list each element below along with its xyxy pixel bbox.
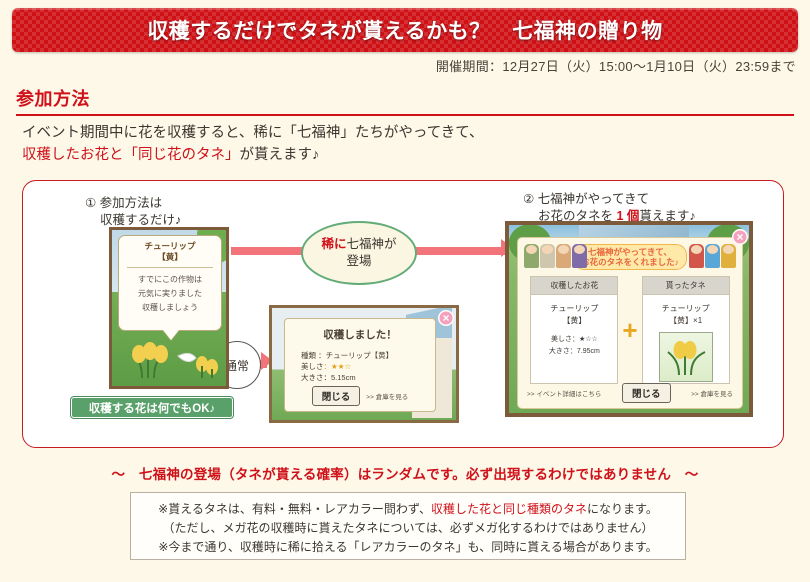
footnote-1-highlight: 収穫した花と同じ種類のタネ (431, 502, 587, 516)
crop-name-line-1: チューリップ (119, 241, 221, 252)
random-appearance-note: 〜 七福神の登場（タネが貰える確率）はランダムです。必ず出現するわけではありませ… (0, 463, 810, 483)
harvest-warehouse-link[interactable]: >> 倉庫を見る (366, 391, 408, 401)
footnote-1-post: になります。 (587, 502, 658, 516)
harvest-row-beauty: 美しさ：★★☆ (301, 361, 435, 372)
intro-highlight: 収穫したお花と「同じ花のタネ」 (22, 147, 240, 163)
harvest-row-beauty-label: 美しさ (301, 362, 324, 371)
event-title: 収穫するだけでタネが貰えるかも？ 七福神の贈り物 (147, 15, 662, 45)
gods-ribbon-line-2: お花のタネをくれました♪ (581, 257, 679, 267)
howto-panel: ① 参加方法は 収穫するだけ♪ ② 七福神がやってきて お花のタネを 1 個貰え… (22, 180, 784, 448)
harvest-row-size-label: 大きさ (301, 373, 324, 382)
harvest-dialog-actions: 閉じる >> 倉庫を見る (285, 386, 435, 406)
gods-close-button[interactable]: 閉じる (622, 383, 671, 403)
step-2-line-1: ② 七福神がやってきて (523, 191, 696, 208)
harvest-row-type: 種類 ：チューリップ【黄】 (301, 350, 435, 361)
harvested-flower-body: チューリップ 【黄】 美しさ：★☆☆ 大きさ：7.95cm (531, 295, 617, 383)
gods-figures-right (689, 244, 736, 268)
intro-line-2: 収穫したお花と「同じ花のタネ」が貰えます♪ (22, 144, 484, 166)
gods-dialog: 七福神がやってきて、 お花のタネをくれました♪ 収穫したお花 チューリップ 【黄… (517, 237, 743, 409)
harvested-flower-size: 大きさ：7.95cm (531, 346, 617, 357)
harvest-row-size: 大きさ：5.15cm (301, 372, 435, 383)
harvested-flower-header: 収穫したお花 (531, 277, 617, 295)
step-1-line-1: ① 参加方法は (85, 195, 181, 212)
harvested-flower-name-1: チューリップ (531, 303, 617, 315)
gods-ribbon-row: 七福神がやってきて、 お花のタネをくれました♪ (522, 240, 738, 274)
intro-line-1: イベント期間中に花を収穫すると、稀に「七福神」たちがやってきて、 (22, 122, 484, 144)
any-flower-ok-badge: 収穫する花は何でもOK♪ (71, 397, 233, 418)
god-figure (705, 244, 720, 268)
crop-info-bubble: チューリップ 【黄】 すでにこの作物は 元気に実りました 収穫しましょう (118, 235, 222, 331)
footnote-line-2: （ただし、メガ花の収穫時に貰えたタネについては、必ずメガ化するわけではありません… (141, 519, 675, 538)
section-divider (16, 114, 794, 116)
step-2-caption: ② 七福神がやってきて お花のタネを 1 個貰えます♪ (523, 191, 696, 225)
bubble-line-2: 元気に実りました (119, 287, 221, 301)
rare-appearance-badge: 稀に七福神が 登場 (301, 221, 417, 285)
plus-icon: + (622, 317, 637, 343)
god-figure (721, 244, 736, 268)
intro-line-2-rest: が貰えます♪ (240, 147, 320, 163)
harvested-flower-beauty: 美しさ：★☆☆ (531, 334, 617, 345)
god-figure (540, 244, 555, 268)
rare-badge-rest: 七福神が (347, 237, 397, 251)
left-game-screenshot: チューリップ 【黄】 すでにこの作物は 元気に実りました 収穫しましょう (109, 227, 229, 389)
rare-badge-highlight: 稀に (321, 237, 346, 251)
event-banner-background: 収穫するだけでタネが貰えるかも？ 七福神の贈り物 (12, 8, 798, 52)
footnote-box: ※貰えるタネは、有料・無料・レアカラー問わず、収穫した花と同じ種類のタネになりま… (130, 492, 686, 560)
god-figure (524, 244, 539, 268)
arrow-bar-oval-to-right (411, 247, 507, 255)
crop-name-line-2: 【黄】 (119, 252, 221, 263)
step-1-caption: ① 参加方法は 収穫するだけ♪ (85, 195, 181, 229)
footnote-line-3: ※今まで通り、収穫時に稀に拾える「レアカラーのタネ」も、同時に貰える場合がありま… (141, 538, 675, 557)
intro-text: イベント期間中に花を収穫すると、稀に「七福神」たちがやってきて、 収穫したお花と… (22, 122, 484, 166)
god-figure (572, 244, 587, 268)
received-seed-name-1: チューリップ (643, 303, 729, 315)
arrow-bar-to-oval (231, 247, 303, 255)
bubble-line-1: すでにこの作物は (119, 273, 221, 287)
harvested-flower-name-2: 【黄】 (531, 315, 617, 327)
event-detail-link[interactable]: >> イベント詳細はこちら (527, 388, 601, 398)
bubble-divider (127, 267, 213, 268)
received-seed-name-2: 【黄】×1 (643, 315, 729, 327)
section-title: 参加方法 (16, 85, 794, 111)
gods-dialog-cards: 収穫したお花 チューリップ 【黄】 美しさ：★☆☆ 大きさ：7.95cm + 貰… (518, 276, 742, 384)
section-header: 参加方法 (16, 85, 794, 116)
harvest-dialog-title: 収穫しました！ (285, 327, 435, 342)
harvested-flower-card: 収穫したお花 チューリップ 【黄】 美しさ：★☆☆ 大きさ：7.95cm (530, 276, 618, 384)
footnote-line-1: ※貰えるタネは、有料・無料・レアカラー問わず、収穫した花と同じ種類のタネになりま… (141, 500, 675, 519)
harvest-dialog: 収穫しました！ 種類 ：チューリップ【黄】 美しさ：★★☆ 大きさ：5.15cm… (284, 318, 436, 412)
god-figure (689, 244, 704, 268)
god-figure (556, 244, 571, 268)
received-seed-body: チューリップ 【黄】×1 (643, 295, 729, 383)
bubble-line-3: 収穫しましょう (119, 301, 221, 315)
harvest-row-size-value: ：5.15cm (324, 373, 356, 382)
event-banner: 収穫するだけでタネが貰えるかも？ 七福神の贈り物 (12, 8, 798, 52)
rare-badge-line-2: 登場 (346, 253, 371, 270)
received-seed-card: 貰ったタネ チューリップ 【黄】×1 (642, 276, 730, 384)
tulip-cluster-icon (126, 334, 218, 380)
event-period: 開催期間：12月27日（火）15:00〜1月10日（火）23:59まで (436, 56, 796, 75)
harvest-row-type-label: 種類 (301, 351, 316, 360)
right-game-screenshot: 七福神がやってきて、 お花のタネをくれました♪ 収穫したお花 チューリップ 【黄… (505, 221, 753, 417)
harvest-dialog-rows: 種類 ：チューリップ【黄】 美しさ：★★☆ 大きさ：5.15cm (301, 350, 435, 383)
harvest-row-beauty-value: ：★★☆ (324, 362, 352, 371)
harvest-result-screenshot: × 収穫しました！ 種類 ：チューリップ【黄】 美しさ：★★☆ 大きさ：5.15… (269, 305, 459, 423)
gods-warehouse-link[interactable]: >> 倉庫を見る (691, 388, 733, 398)
gods-ribbon-line-1: 七福神がやってきて、 (581, 247, 679, 257)
seed-thumbnail (659, 332, 713, 382)
close-icon[interactable]: × (732, 229, 748, 245)
gods-ribbon: 七福神がやってきて、 お花のタネをくれました♪ (573, 244, 687, 270)
tulip-seed-icon (661, 333, 711, 379)
footnote-1-pre: ※貰えるタネは、有料・無料・レアカラー問わず、 (158, 502, 431, 516)
received-seed-header: 貰ったタネ (643, 277, 729, 295)
gods-figures-left (524, 244, 587, 268)
harvest-close-button[interactable]: 閉じる (312, 386, 361, 406)
harvest-row-type-value: ：チューリップ【黄】 (318, 351, 393, 360)
gods-dialog-actions: >> イベント詳細はこちら 閉じる >> 倉庫を見る (518, 383, 742, 403)
rare-badge-line-1: 稀に七福神が (321, 236, 396, 253)
close-icon[interactable]: × (438, 310, 454, 326)
tulip-cluster-svg (126, 334, 218, 380)
